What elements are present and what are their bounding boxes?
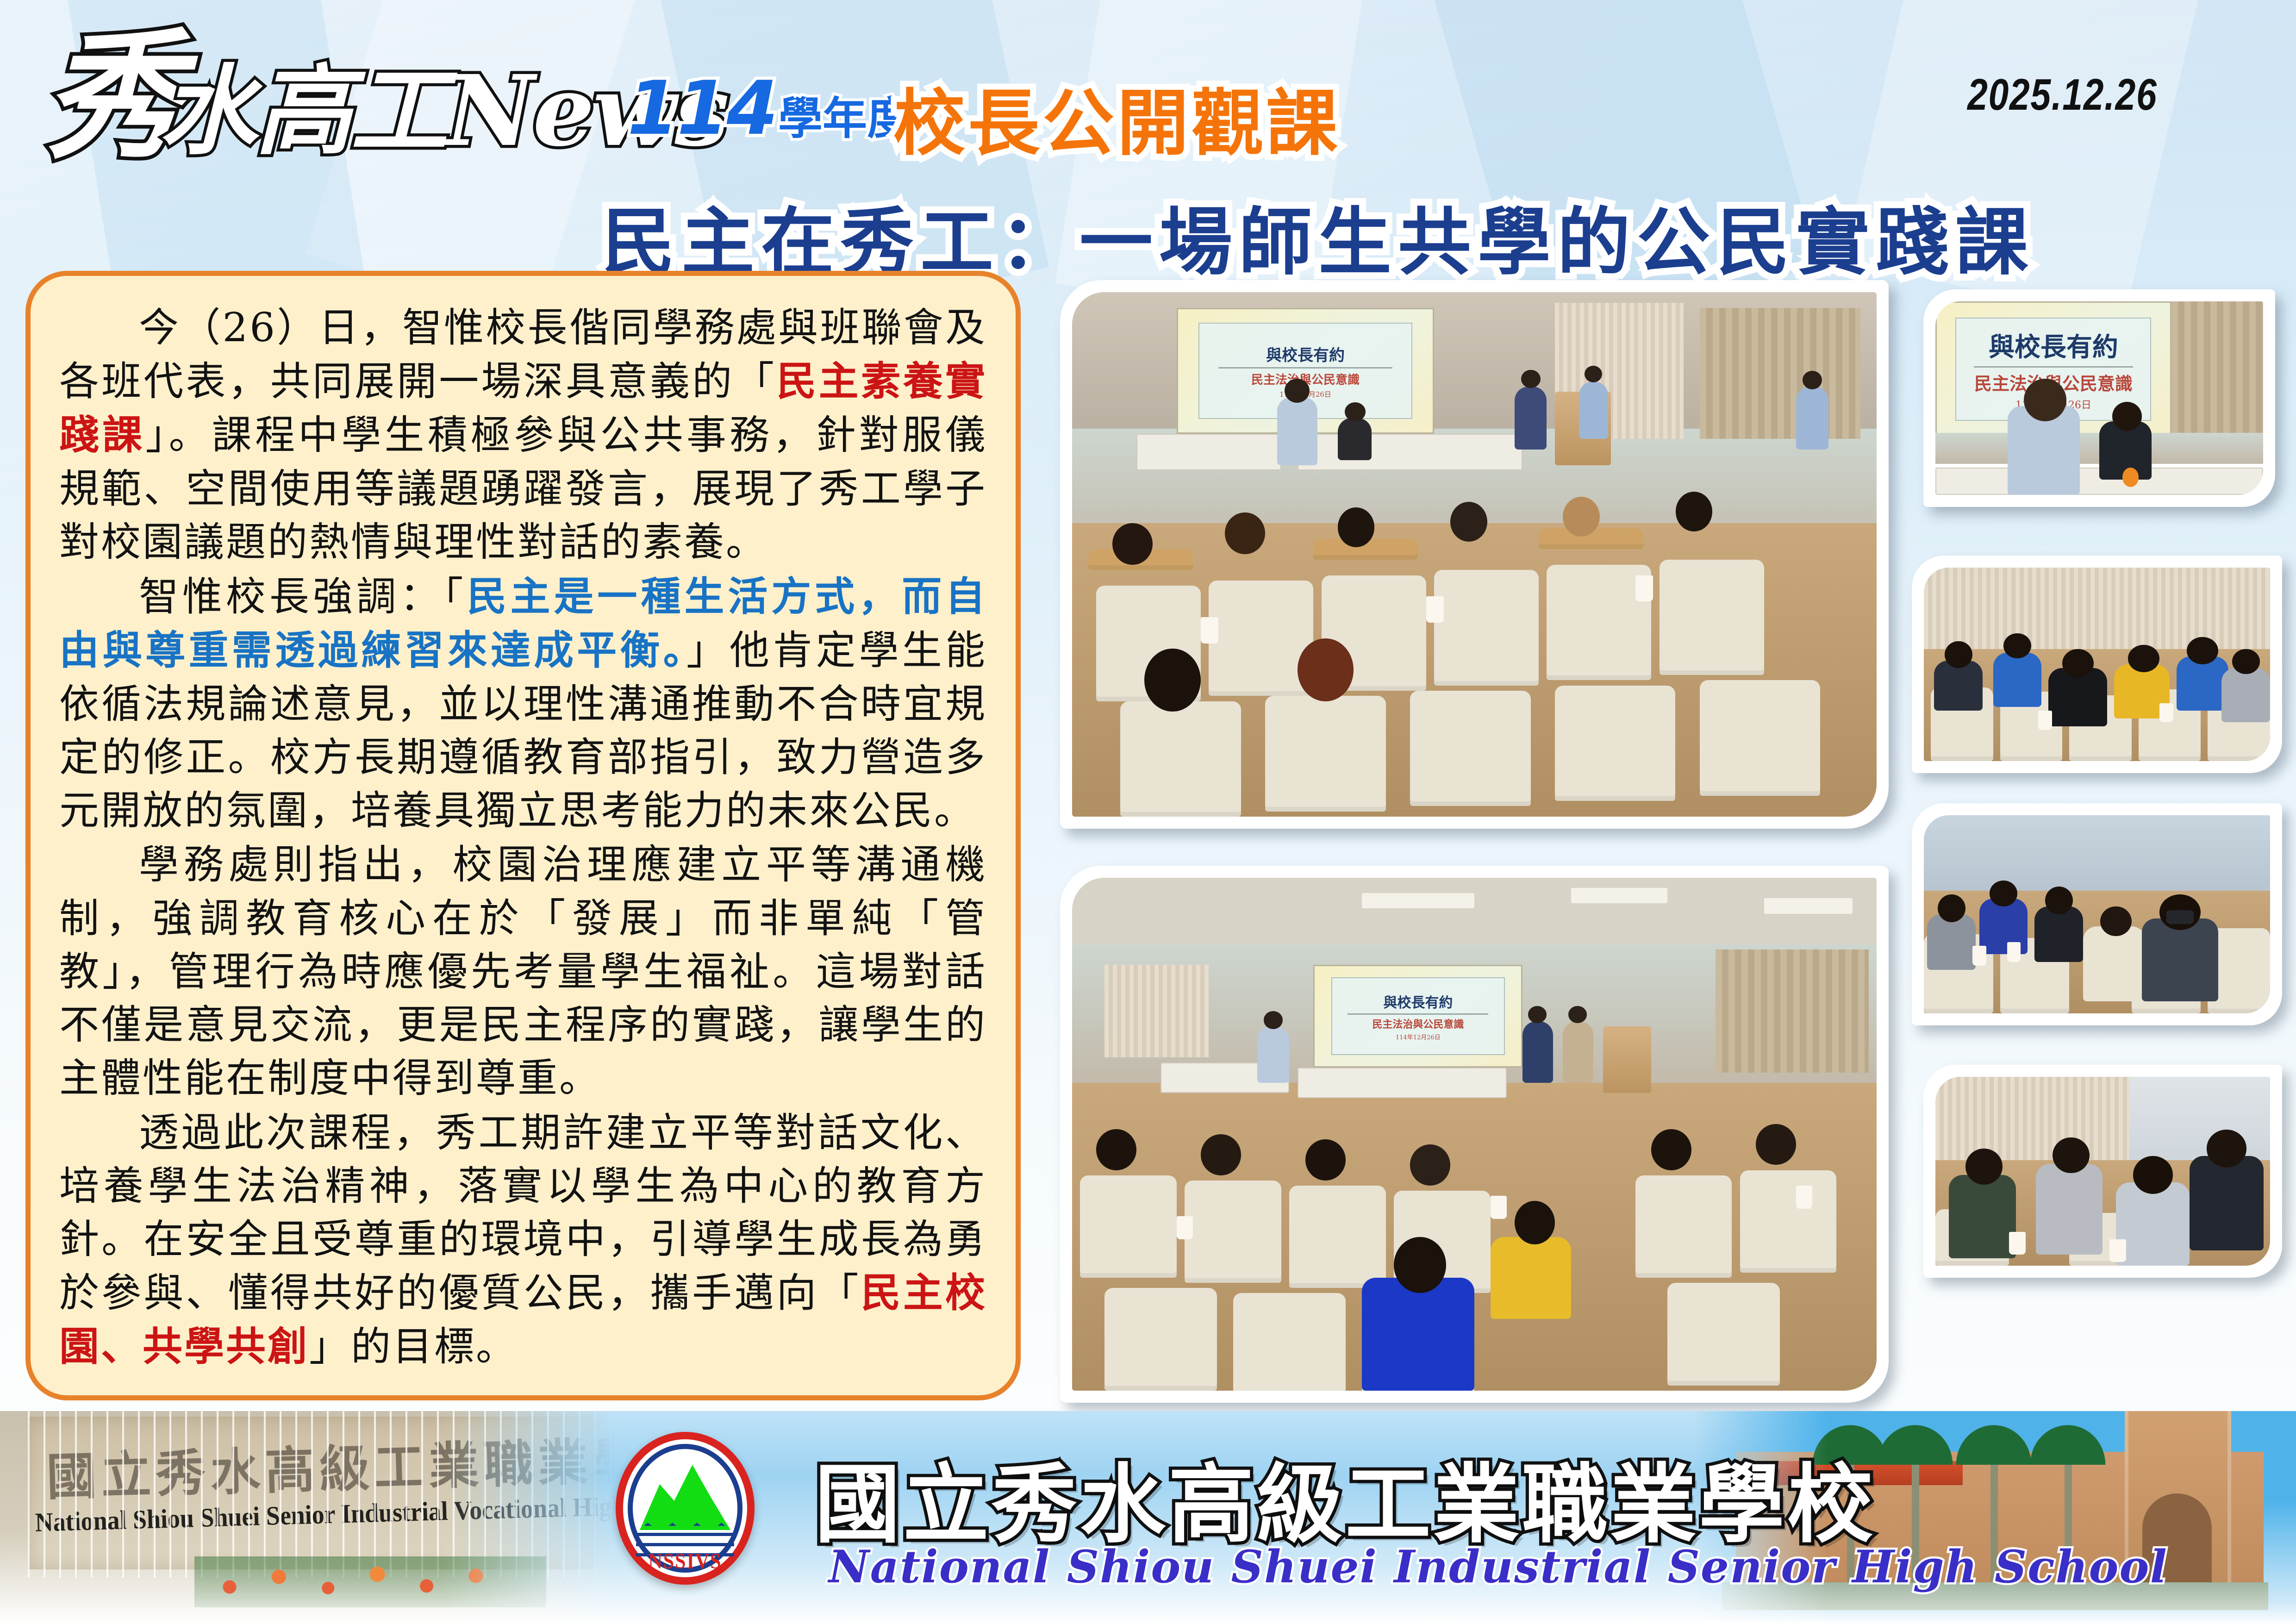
photo-students-question[interactable] [1912, 803, 2282, 1025]
school-year-badge: 114學年度 [627, 65, 911, 151]
article-paragraph-1: 今（26）日，智惟校長偕同學務處與班聯會及各班代表，共同展開一場深具意義的「民主… [59, 301, 987, 569]
slide-title-1: 與校長有約 [1266, 343, 1345, 365]
school-gate-photo: 國立秀水高級工業職業學校 National Shiou Shuei Senior… [0, 1411, 616, 1624]
p2-part-a: 智惟校長強調：「 [139, 574, 467, 620]
publish-date: 2025.12.26 [1967, 69, 2157, 120]
footer-band: 國立秀水高級工業職業學校 National Shiou Shuei Senior… [0, 1411, 2296, 1624]
photo-students-listening-2-image [1935, 1077, 2270, 1266]
slide-title-3: 與校長有約 [1989, 326, 2118, 364]
school-name-english: National Shiou Shuei Industrial Senior H… [829, 1541, 2168, 1593]
p4-part-b: 」的目標。 [309, 1324, 518, 1370]
header-band: 秀水高工News 114學年度 校長公開觀課 2025.12.26 民主在秀工：… [0, 0, 2296, 259]
article-paragraph-4: 透過此次課程，秀工期許建立平等對話文化、培養學生法治精神，落實以學生為中心的教育… [59, 1106, 987, 1374]
school-year-suffix: 學年度 [778, 93, 911, 144]
masthead-logo: 秀水高工News [44, 37, 728, 155]
p1-part-b: 」。課程中學生積極參與公共事務，針對服儀規範、空間使用等議題踴躍發言，展現了秀工… [59, 412, 987, 565]
crest-initials: NSSIVS [616, 1549, 755, 1574]
article-paragraph-3: 學務處則指出，校園治理應建立平等溝通機制，強調教育核心在於「發展」而非單純「管教… [59, 838, 987, 1105]
article-text-panel: 今（26）日，智惟校長偕同學務處與班聯會及各班代表，共同展開一場深具意義的「民主… [25, 271, 1021, 1400]
masthead-big-char: 秀 [44, 14, 178, 178]
school-crest-logo: NSSIVS [616, 1432, 755, 1585]
slide-title-2: 與校長有約 [1383, 991, 1453, 1012]
slide-date-2: 114年12月26日 [1396, 1032, 1441, 1041]
photo-students-listening-1[interactable] [1912, 556, 2282, 773]
photo-students-listening-2[interactable] [1923, 1065, 2282, 1278]
slide-subtitle-2: 民主法治與公民意識 [1372, 1016, 1464, 1031]
photo-principal-speaking[interactable]: 與校長有約 民主法治與公民意識 114年12月26日 [1923, 289, 2275, 507]
photo-assembly-rear[interactable]: 與校長有約 民主法治與公民意識 114年12月26日 [1060, 866, 1889, 1403]
p4-part-a: 透過此次課程，秀工期許建立平等對話文化、培養學生法治精神，落實以學生為中心的教育… [59, 1110, 987, 1317]
article-paragraph-2: 智惟校長強調：「民主是一種生活方式，而自由與尊重需透過練習來達成平衡。」他肯定學… [59, 570, 987, 837]
event-title: 校長公開觀課 [893, 65, 1341, 169]
photo-assembly-wide[interactable]: 與校長有約 民主法治與公民意識 114年12月26日 [1060, 280, 1889, 829]
photo-assembly-wide-image: 與校長有約 民主法治與公民意識 114年12月26日 [1072, 292, 1877, 817]
photo-students-listening-1-image [1924, 568, 2270, 761]
photo-principal-speaking-image: 與校長有約 民主法治與公民意識 114年12月26日 [1935, 301, 2263, 495]
newsletter-page: 秀水高工News 114學年度 校長公開觀課 2025.12.26 民主在秀工：… [0, 0, 2296, 1624]
school-year-number: 114 [627, 65, 776, 151]
photo-assembly-rear-image: 與校長有約 民主法治與公民意識 114年12月26日 [1072, 878, 1877, 1391]
photo-students-question-image [1924, 815, 2270, 1013]
